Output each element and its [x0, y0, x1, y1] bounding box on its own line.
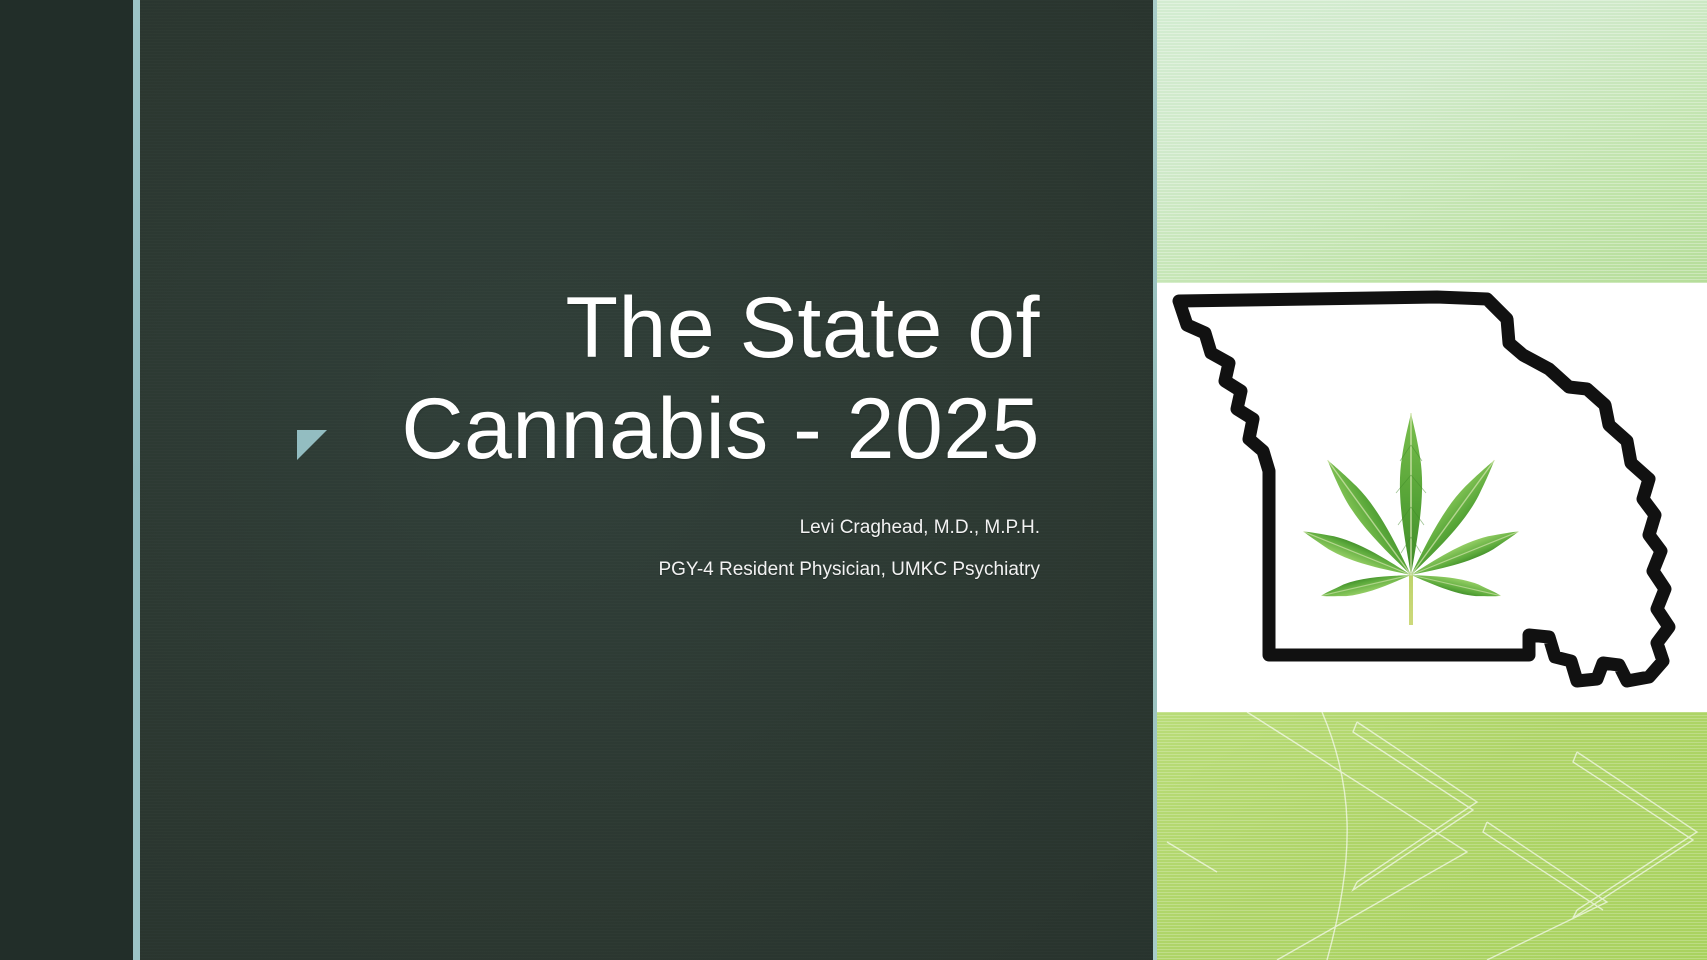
presentation-slide: The State of Cannabis - 2025 Levi Craghe…	[0, 0, 1707, 960]
map-image-panel	[1157, 283, 1707, 712]
right-decorative-column	[1153, 0, 1707, 960]
subtitle-block: Levi Craghead, M.D., M.P.H. PGY-4 Reside…	[300, 518, 1040, 579]
chevron-pattern-decoration	[1157, 712, 1707, 960]
bottom-green-gradient-block	[1157, 712, 1707, 960]
triangle-flag-icon	[297, 430, 327, 460]
right-vertical-rule	[1153, 0, 1157, 960]
left-vertical-rule	[133, 0, 140, 960]
presenter-role: PGY-4 Resident Physician, UMKC Psychiatr…	[300, 560, 1040, 579]
left-accent-band	[0, 0, 133, 960]
top-green-gradient-block	[1157, 0, 1707, 283]
title-line-2: Cannabis - 2025	[340, 379, 1040, 480]
title-line-1: The State of	[340, 278, 1040, 379]
page-title: The State of Cannabis - 2025	[340, 278, 1040, 481]
cannabis-leaf-icon	[1262, 365, 1562, 635]
presenter-name: Levi Craghead, M.D., M.P.H.	[300, 518, 1040, 537]
